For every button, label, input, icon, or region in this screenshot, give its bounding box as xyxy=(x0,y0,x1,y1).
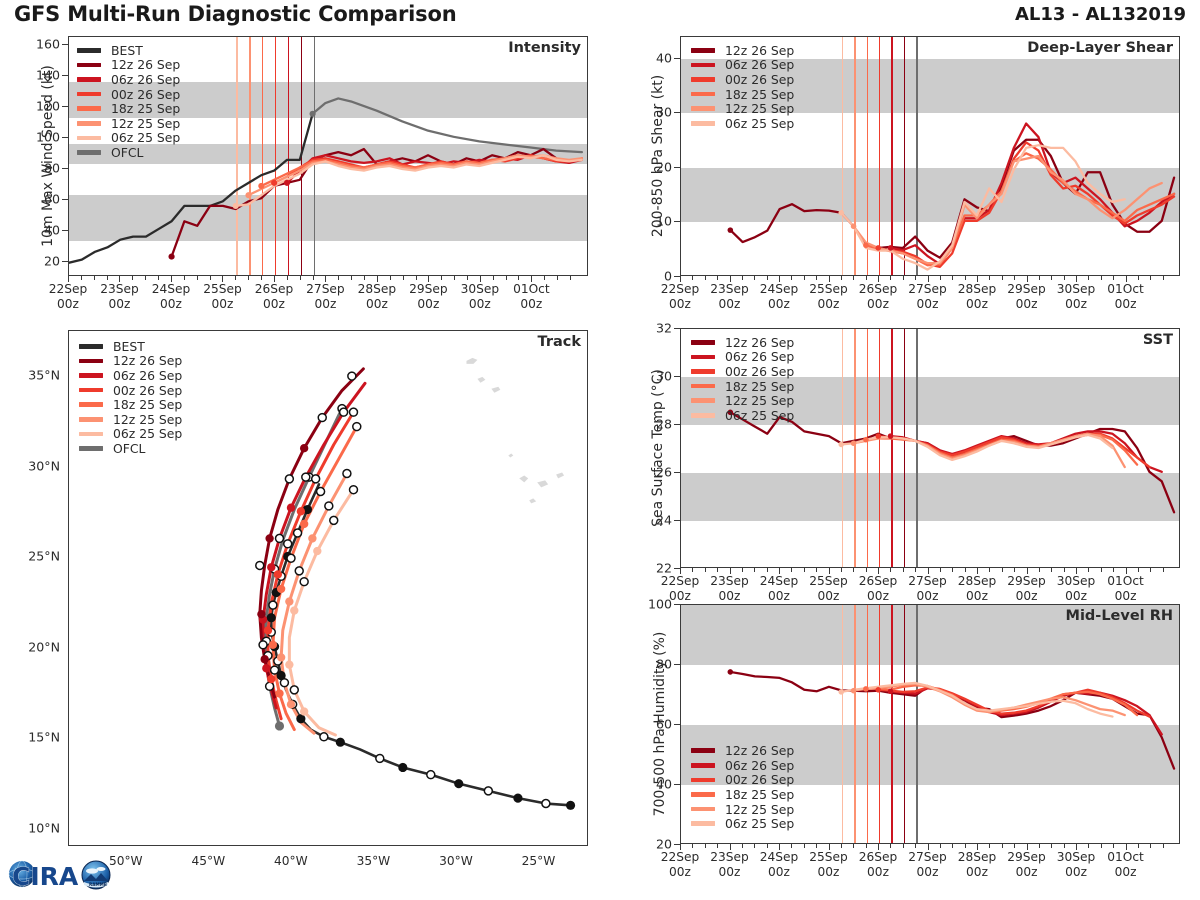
x-tick-mark xyxy=(1113,568,1114,572)
y-tick-mark xyxy=(674,604,680,605)
legend-item-label: 12z 25 Sep xyxy=(725,393,794,408)
series-start-marker xyxy=(888,433,894,439)
x-tick-mark xyxy=(235,276,236,280)
track-marker-12z xyxy=(330,516,338,524)
track-x-tick-label: 30°W xyxy=(439,854,473,869)
x-tick-mark xyxy=(903,844,904,848)
legend-item-label: 12z 26 Sep xyxy=(725,743,794,758)
legend-color-swatch xyxy=(691,398,715,403)
x-tick-mark xyxy=(940,844,941,848)
legend-item[interactable]: 06z 26 Sep xyxy=(77,72,180,87)
x-tick-hour: 00z xyxy=(1057,589,1095,604)
track-marker-12z xyxy=(266,682,274,690)
x-tick-label: 22Sep00z xyxy=(49,282,87,311)
y-tick-mark xyxy=(62,137,68,138)
legend-item-label: 12z 26 Sep xyxy=(725,43,794,58)
track-marker-12z xyxy=(294,529,302,537)
legend-item[interactable]: 06z 25 Sep xyxy=(691,116,794,131)
x-tick-mark xyxy=(742,844,743,848)
track-landmasses xyxy=(466,358,564,503)
x-tick-date: 26Sep xyxy=(859,574,897,589)
x-tick-mark xyxy=(692,568,693,572)
x-tick-mark xyxy=(965,276,966,280)
cira-logo: CIRA RAMMB xyxy=(6,852,118,896)
legend-item[interactable]: 00z 26 Sep xyxy=(691,364,794,379)
x-tick-mark xyxy=(416,276,417,280)
x-tick-label: 29Sep00z xyxy=(1007,574,1045,603)
track-marker-12z xyxy=(312,475,320,483)
series-start-marker xyxy=(258,183,264,189)
legend-item[interactable]: 12z 25 Sep xyxy=(691,101,794,116)
legend-item[interactable]: 00z 26 Sep xyxy=(691,72,794,87)
legend-item-label: OFCL xyxy=(111,145,143,160)
legend-item-label: 18z 25 Sep xyxy=(725,787,794,802)
x-tick-mark xyxy=(705,844,706,848)
page-title: GFS Multi-Run Diagnostic Comparison xyxy=(14,2,456,26)
track-marker-12z xyxy=(280,679,288,687)
series-start-marker xyxy=(851,688,857,694)
track-marker-12z xyxy=(317,488,325,496)
series-start-marker xyxy=(851,224,857,230)
legend-color-swatch xyxy=(77,136,101,141)
legend-item[interactable]: BEST xyxy=(77,43,180,58)
x-tick-mark xyxy=(1027,844,1028,850)
track-y-tick-label: 30°N xyxy=(12,458,60,473)
x-tick-mark xyxy=(903,568,904,572)
legend-item-label: 06z 25 Sep xyxy=(725,816,794,831)
legend-item[interactable]: 12z 25 Sep xyxy=(691,802,794,817)
y-tick-label: 10 xyxy=(630,214,672,229)
track-marker-00z xyxy=(336,738,345,747)
legend-item[interactable]: 06z 25 Sep xyxy=(77,131,180,146)
x-tick-mark xyxy=(816,276,817,280)
track-y-tick-label: 35°N xyxy=(12,368,60,383)
x-tick-hour: 00z xyxy=(859,297,897,312)
x-tick-mark xyxy=(197,276,198,280)
legend-item[interactable]: 12z 25 Sep xyxy=(79,412,182,427)
x-tick-label: 29Sep00z xyxy=(1007,282,1045,311)
x-tick-mark xyxy=(132,276,133,280)
x-tick-mark xyxy=(1014,844,1015,848)
legend-item[interactable]: 06z 25 Sep xyxy=(79,427,182,442)
track-marker-12z xyxy=(542,800,550,808)
x-tick-hour: 00z xyxy=(1057,297,1095,312)
x-tick-mark xyxy=(493,276,494,280)
cira-logo-svg: CIRA RAMMB xyxy=(6,852,118,896)
x-tick-mark xyxy=(1064,276,1065,280)
x-tick-mark xyxy=(1076,844,1077,850)
legend-item[interactable]: 12z 26 Sep xyxy=(79,354,182,369)
track-y-tick-label: 25°N xyxy=(12,549,60,564)
sst-panel-label: SST xyxy=(1143,332,1173,348)
track-marker-00z xyxy=(262,664,270,672)
x-tick-label: 26Sep00z xyxy=(859,282,897,311)
x-tick-mark xyxy=(915,844,916,848)
x-tick-mark xyxy=(1064,844,1065,848)
x-tick-mark xyxy=(952,844,953,848)
track-marker-12z xyxy=(287,554,295,562)
x-tick-mark xyxy=(977,276,978,282)
legend-color-swatch xyxy=(691,778,715,783)
x-tick-mark xyxy=(767,276,768,280)
x-tick-mark xyxy=(730,568,731,574)
x-tick-mark xyxy=(692,276,693,280)
series-start-marker xyxy=(838,210,844,216)
x-tick-mark xyxy=(1138,568,1139,572)
x-tick-hour: 00z xyxy=(661,297,699,312)
x-tick-mark xyxy=(570,276,571,280)
x-tick-date: 01Oct xyxy=(513,282,550,297)
x-tick-date: 29Sep xyxy=(1007,850,1045,865)
x-tick-hour: 00z xyxy=(358,297,396,312)
x-tick-mark xyxy=(184,276,185,280)
legend-item-label: 12z 26 Sep xyxy=(725,335,794,350)
x-tick-date: 26Sep xyxy=(255,282,293,297)
svg-text:CIRA: CIRA xyxy=(12,862,79,891)
y-tick-label: 100 xyxy=(630,597,672,612)
x-tick-date: 22Sep xyxy=(661,282,699,297)
track-marker-00z xyxy=(297,507,305,515)
track-marker-00z xyxy=(269,641,277,649)
legend-item[interactable]: 18z 25 Sep xyxy=(691,787,794,802)
legend-color-swatch xyxy=(691,92,715,97)
series-start-marker xyxy=(245,192,251,198)
x-tick-mark xyxy=(1126,276,1127,282)
y-tick-label: 120 xyxy=(18,98,60,113)
legend-color-swatch xyxy=(691,63,715,68)
legend-item[interactable]: 18z 25 Sep xyxy=(79,397,182,412)
y-tick-label: 80 xyxy=(630,657,672,672)
x-tick-mark xyxy=(1101,276,1102,280)
x-tick-mark xyxy=(1150,844,1151,848)
x-tick-hour: 00z xyxy=(1107,297,1144,312)
x-tick-mark xyxy=(866,844,867,848)
legend-color-swatch xyxy=(77,48,101,53)
legend-item-label: 00z 26 Sep xyxy=(725,364,794,379)
x-tick-date: 27Sep xyxy=(306,282,344,297)
track-plot-area: Track BEST12z 26 Sep06z 26 Sep00z 26 Sep… xyxy=(68,330,588,846)
x-tick-mark xyxy=(767,568,768,572)
series-start-marker xyxy=(888,245,894,251)
x-tick-date: 29Sep xyxy=(1007,282,1045,297)
x-tick-hour: 00z xyxy=(1007,589,1045,604)
legend-item[interactable]: 12z 26 Sep xyxy=(691,743,794,758)
legend-color-swatch xyxy=(77,92,101,97)
x-tick-mark xyxy=(338,276,339,280)
x-tick-mark xyxy=(274,276,275,282)
track-marker-12z xyxy=(427,771,435,779)
legend-item[interactable]: 06z 26 Sep xyxy=(691,758,794,773)
x-tick-label: 25Sep00z xyxy=(809,282,847,311)
x-tick-mark xyxy=(158,276,159,280)
legend-item[interactable]: 12z 25 Sep xyxy=(691,393,794,408)
track-marker-00z xyxy=(300,707,308,715)
x-tick-mark xyxy=(853,844,854,848)
legend-item[interactable]: OFCL xyxy=(79,441,182,456)
track-marker-00z xyxy=(313,547,321,555)
legend-color-swatch xyxy=(691,106,715,111)
x-tick-label: 27Sep00z xyxy=(908,574,946,603)
x-tick-mark xyxy=(1150,276,1151,280)
x-tick-hour: 00z xyxy=(908,297,946,312)
legend-item-label: 18z 25 Sep xyxy=(725,87,794,102)
y-tick-mark xyxy=(674,376,680,377)
x-tick-label: 27Sep00z xyxy=(908,282,946,311)
x-tick-date: 30Sep xyxy=(1057,282,1095,297)
x-tick-label: 23Sep00z xyxy=(710,850,748,879)
x-tick-mark xyxy=(742,568,743,572)
x-tick-label: 26Sep00z xyxy=(255,282,293,311)
x-tick-mark xyxy=(377,276,378,282)
x-tick-mark xyxy=(1039,844,1040,848)
legend-item-label: BEST xyxy=(111,43,143,58)
track-marker-12z xyxy=(320,733,328,741)
legend-item[interactable]: 12z 26 Sep xyxy=(77,58,180,73)
x-tick-date: 23Sep xyxy=(710,850,748,865)
panel-intensity: Intensity BEST12z 26 Sep06z 26 Sep00z 26… xyxy=(68,36,588,276)
x-tick-mark xyxy=(717,568,718,572)
x-tick-mark xyxy=(1101,568,1102,572)
y-tick-mark xyxy=(62,199,68,200)
legend-item-label: 12z 26 Sep xyxy=(113,353,182,368)
x-tick-label: 25Sep00z xyxy=(809,850,847,879)
x-tick-mark xyxy=(940,276,941,280)
y-tick-mark xyxy=(62,44,68,45)
legend-item-label: 00z 26 Sep xyxy=(725,772,794,787)
x-tick-label: 29Sep00z xyxy=(1007,850,1045,879)
track-marker-12z xyxy=(350,486,358,494)
x-tick-mark xyxy=(940,568,941,572)
x-tick-label: 01Oct00z xyxy=(1107,574,1144,603)
x-tick-label: 22Sep00z xyxy=(661,850,699,879)
y-tick-label: 40 xyxy=(630,50,672,65)
legend-color-swatch xyxy=(79,359,103,364)
legend-item[interactable]: 12z 26 Sep xyxy=(691,43,794,58)
data-series-line xyxy=(891,431,1162,471)
x-tick-date: 23Sep xyxy=(710,282,748,297)
x-tick-hour: 00z xyxy=(255,297,293,312)
y-tick-mark xyxy=(674,472,680,473)
x-tick-hour: 00z xyxy=(859,865,897,880)
x-tick-mark xyxy=(531,276,532,282)
x-tick-hour: 00z xyxy=(1057,865,1095,880)
legend-color-swatch xyxy=(79,388,103,393)
legend-color-swatch xyxy=(77,63,101,68)
track-marker-00z xyxy=(300,444,308,452)
x-tick-mark xyxy=(989,276,990,280)
x-tick-hour: 00z xyxy=(409,297,447,312)
x-tick-hour: 00z xyxy=(760,297,798,312)
x-tick-hour: 00z xyxy=(1007,297,1045,312)
legend-item[interactable]: 06z 26 Sep xyxy=(691,350,794,365)
x-tick-mark xyxy=(1051,568,1052,572)
track-marker-12z xyxy=(302,473,310,481)
x-tick-label: 01Oct00z xyxy=(513,282,550,311)
legend-item[interactable]: 06z 25 Sep xyxy=(691,816,794,831)
x-tick-date: 23Sep xyxy=(100,282,138,297)
track-x-tick-label: 45°W xyxy=(191,854,225,869)
data-series-line xyxy=(730,412,1174,512)
series-start-marker xyxy=(838,689,844,695)
x-tick-mark xyxy=(952,568,953,572)
x-tick-mark xyxy=(903,276,904,280)
x-tick-date: 30Sep xyxy=(461,282,499,297)
x-tick-mark xyxy=(403,276,404,280)
x-tick-date: 01Oct xyxy=(1107,282,1144,297)
x-tick-hour: 00z xyxy=(1107,865,1144,880)
x-tick-mark xyxy=(1027,568,1028,574)
x-tick-date: 29Sep xyxy=(1007,574,1045,589)
x-tick-hour: 00z xyxy=(152,297,190,312)
legend-color-swatch xyxy=(79,432,103,437)
track-marker-00z xyxy=(267,563,275,571)
legend-item[interactable]: 18z 25 Sep xyxy=(77,101,180,116)
track-marker-12z xyxy=(290,686,298,694)
x-tick-date: 27Sep xyxy=(908,850,946,865)
sst-legend: 12z 26 Sep06z 26 Sep00z 26 Sep18z 25 Sep… xyxy=(691,335,794,423)
x-tick-mark xyxy=(928,568,929,574)
legend-color-swatch xyxy=(691,413,715,418)
legend-item[interactable]: 06z 26 Sep xyxy=(79,368,182,383)
legend-color-swatch xyxy=(691,369,715,374)
x-tick-mark xyxy=(730,844,731,850)
x-tick-mark xyxy=(441,276,442,280)
x-tick-mark xyxy=(1088,568,1089,572)
y-tick-label: 40 xyxy=(18,222,60,237)
track-marker-12z xyxy=(353,423,361,431)
x-tick-mark xyxy=(119,276,120,282)
track-marker-00z xyxy=(290,606,298,614)
x-tick-label: 24Sep00z xyxy=(152,282,190,311)
shear-legend: 12z 26 Sep06z 26 Sep00z 26 Sep18z 25 Sep… xyxy=(691,43,794,131)
track-marker-00z xyxy=(275,721,284,730)
x-tick-date: 24Sep xyxy=(152,282,190,297)
track-marker-00z xyxy=(398,763,407,772)
y-tick-mark xyxy=(62,230,68,231)
legend-item[interactable]: 18z 25 Sep xyxy=(691,379,794,394)
x-tick-hour: 00z xyxy=(1107,589,1144,604)
x-tick-label: 30Sep00z xyxy=(1057,850,1095,879)
track-marker-12z xyxy=(285,475,293,483)
x-tick-mark xyxy=(210,276,211,280)
x-tick-mark xyxy=(829,568,830,574)
x-tick-label: 23Sep00z xyxy=(100,282,138,311)
legend-color-swatch xyxy=(691,384,715,389)
x-tick-mark xyxy=(454,276,455,280)
legend-item[interactable]: 12z 25 Sep xyxy=(77,116,180,131)
legend-item[interactable]: BEST xyxy=(79,339,182,354)
track-y-tick-label: 10°N xyxy=(12,820,60,835)
x-tick-date: 22Sep xyxy=(49,282,87,297)
x-tick-date: 30Sep xyxy=(1057,850,1095,865)
track-marker-12z xyxy=(318,414,326,422)
x-tick-hour: 00z xyxy=(1007,865,1045,880)
track-x-tick-label: 35°W xyxy=(357,854,391,869)
series-start-marker xyxy=(875,687,881,693)
legend-item[interactable]: 00z 26 Sep xyxy=(691,773,794,788)
legend-color-swatch xyxy=(79,402,103,407)
x-tick-label: 26Sep00z xyxy=(859,850,897,879)
x-tick-hour: 00z xyxy=(760,865,798,880)
legend-item[interactable]: 00z 26 Sep xyxy=(79,383,182,398)
track-marker-00z xyxy=(308,534,316,542)
series-start-marker xyxy=(168,254,174,260)
track-y-tick-label: 15°N xyxy=(12,730,60,745)
y-tick-label: 32 xyxy=(630,321,672,336)
x-tick-mark xyxy=(705,276,706,280)
legend-item[interactable]: 00z 26 Sep xyxy=(77,87,180,102)
x-tick-mark xyxy=(829,844,830,850)
x-tick-mark xyxy=(1101,844,1102,848)
track-marker-00z xyxy=(300,520,308,528)
x-tick-mark xyxy=(680,844,681,850)
track-marker-00z xyxy=(513,794,522,803)
x-tick-label: 30Sep00z xyxy=(1057,282,1095,311)
x-tick-label: 24Sep00z xyxy=(760,282,798,311)
x-tick-mark xyxy=(467,276,468,280)
legend-item-label: 18z 25 Sep xyxy=(725,379,794,394)
x-tick-label: 22Sep00z xyxy=(661,282,699,311)
legend-item[interactable]: 06z 25 Sep xyxy=(691,408,794,423)
x-tick-mark xyxy=(1014,568,1015,572)
x-tick-label: 28Sep00z xyxy=(958,850,996,879)
track-marker-12z xyxy=(269,601,277,609)
x-tick-hour: 00z xyxy=(661,865,699,880)
x-tick-mark xyxy=(222,276,223,282)
x-tick-mark xyxy=(853,276,854,280)
x-tick-mark xyxy=(829,276,830,282)
x-tick-label: 30Sep00z xyxy=(461,282,499,311)
x-tick-hour: 00z xyxy=(958,297,996,312)
legend-color-swatch xyxy=(691,763,715,768)
legend-color-swatch xyxy=(691,355,715,360)
y-tick-label: 30 xyxy=(630,369,672,384)
legend-item[interactable]: 06z 26 Sep xyxy=(691,58,794,73)
legend-item[interactable]: 12z 26 Sep xyxy=(691,335,794,350)
track-marker-12z xyxy=(259,641,267,649)
x-tick-mark xyxy=(1126,568,1127,574)
x-tick-mark xyxy=(816,568,817,572)
data-series-line xyxy=(313,98,582,152)
rh-plot-area: Mid-Level RH 12z 26 Sep06z 26 Sep00z 26 … xyxy=(680,604,1180,844)
track-panel-label: Track xyxy=(538,334,581,350)
x-tick-mark xyxy=(480,276,481,282)
legend-item[interactable]: 18z 25 Sep xyxy=(691,87,794,102)
intensity-panel-label: Intensity xyxy=(508,40,581,56)
series-start-marker xyxy=(233,203,239,209)
legend-item-label: 06z 25 Sep xyxy=(725,116,794,131)
series-start-marker xyxy=(875,433,881,439)
x-tick-mark xyxy=(428,276,429,282)
x-tick-mark xyxy=(705,568,706,572)
x-tick-date: 24Sep xyxy=(760,282,798,297)
x-tick-mark xyxy=(351,276,352,280)
x-tick-mark xyxy=(915,568,916,572)
x-tick-hour: 00z xyxy=(809,589,847,604)
series-start-marker xyxy=(728,669,734,675)
x-tick-hour: 00z xyxy=(203,297,241,312)
intensity-plot-area: Intensity BEST12z 26 Sep06z 26 Sep00z 26… xyxy=(68,36,588,276)
legend-color-swatch xyxy=(691,340,715,345)
data-series-line xyxy=(866,153,1174,265)
legend-color-swatch xyxy=(691,748,715,753)
legend-item[interactable]: OFCL xyxy=(77,145,180,160)
x-tick-label: 26Sep00z xyxy=(859,574,897,603)
svg-text:RAMMB: RAMMB xyxy=(89,882,107,887)
x-tick-label: 01Oct00z xyxy=(1107,282,1144,311)
series-start-marker xyxy=(863,437,869,443)
legend-color-swatch xyxy=(691,48,715,53)
